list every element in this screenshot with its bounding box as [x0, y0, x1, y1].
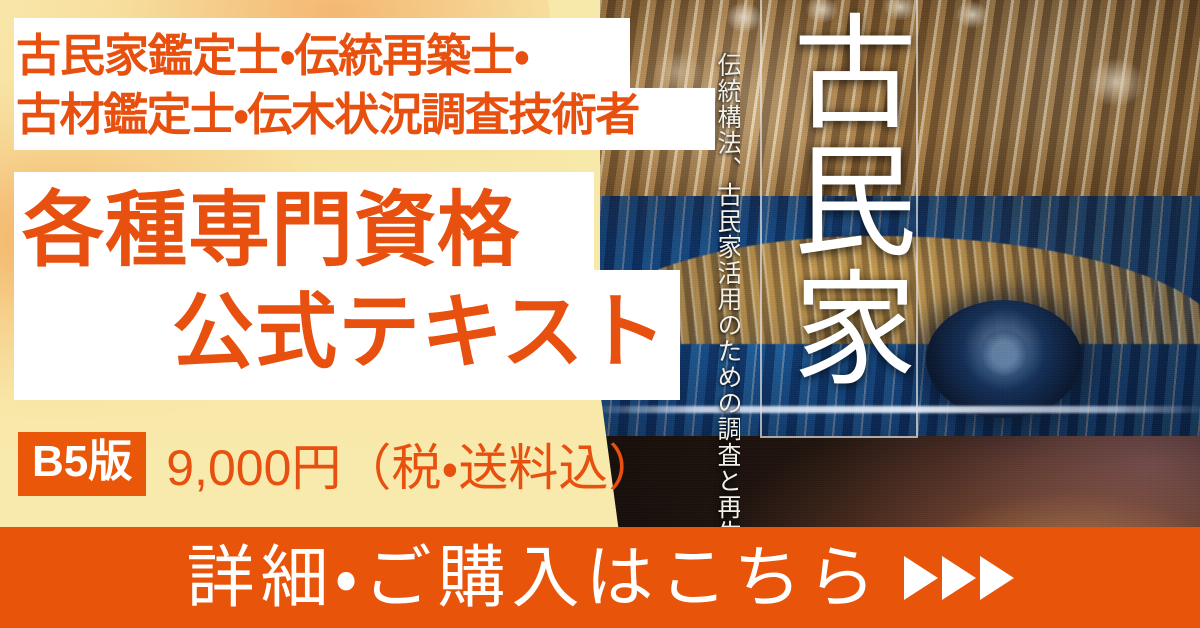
subhead-line-1: 古民家鑑定士・伝統再築士・ — [16, 26, 716, 85]
qualifications-subhead: 古民家鑑定士・伝統再築士・ 古材鑑定士・伝木状況調査技術者 — [16, 26, 716, 145]
headline-line-2: 公式テキスト — [16, 282, 696, 384]
headline-line-1: 各種専門資格 — [16, 180, 696, 282]
subhead-line-2: 古材鑑定士・伝木状況調査技術者 — [16, 85, 716, 144]
cover-photo-crest-medallion — [926, 300, 1082, 418]
main-headline: 各種専門資格 公式テキスト — [16, 180, 696, 383]
price-row: B5版 9,000円（税・送料込） — [18, 428, 658, 500]
format-badge-b5: B5版 — [18, 432, 146, 495]
triangle-right-icon — [942, 556, 976, 600]
book-cover-title: 古民家 — [768, 8, 908, 428]
triangle-right-icon — [904, 556, 938, 600]
price-amount: 9,000円（税・送料込） — [166, 428, 658, 500]
promo-banner: 伝統構法、古民家活用のための調査と再生の 古民家 古民家鑑定士・伝統再築士・ 古… — [0, 0, 1200, 628]
cta-bar[interactable]: 詳細・ご購入はこちら — [0, 527, 1200, 628]
cta-label: 詳細・ご購入はこちら — [186, 544, 881, 612]
triangle-right-icon — [980, 556, 1014, 600]
cta-arrow-group — [904, 556, 1014, 600]
